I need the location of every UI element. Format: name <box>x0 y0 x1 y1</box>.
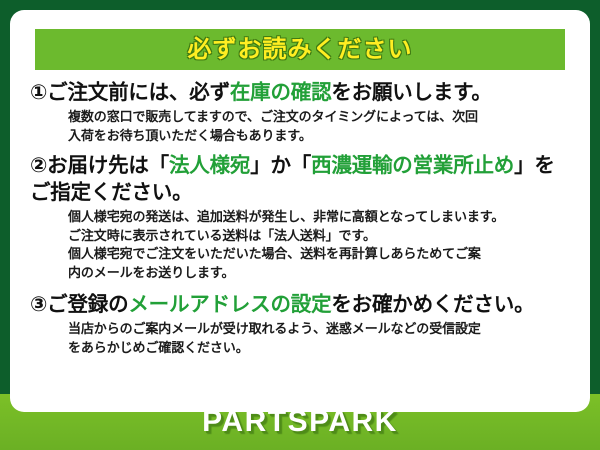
notice-item-3-heading: ③ご登録のメールアドレスの設定をお確かめください。 <box>30 291 574 318</box>
notice-frame: PARTSPARK 必ずお読みください ①ご注文前には、必ず在庫の確認をお願いし… <box>0 0 600 450</box>
item-1-body-line: 入荷をお待ち頂いただく場合もあります。 <box>68 127 574 145</box>
item-3-body-line: をあらかじめご確認ください。 <box>68 339 574 357</box>
notice-item-2-heading: ②お届け先は「法人様宛」か「西濃運輸の営業所止め」をご指定ください。 <box>30 153 574 206</box>
notice-item-1-heading: ①ご注文前には、必ず在庫の確認をお願いします。 <box>30 79 574 106</box>
notice-item-1: ①ご注文前には、必ず在庫の確認をお願いします。 複数の窓口で販売してますので、ご… <box>30 79 574 145</box>
notice-item-2-body: 個人様宅宛の発送は、追加送料が発生し、非常に高額となってしまいます。 ご注文時に… <box>30 206 574 282</box>
item-1-heading-highlight: 在庫の確認 <box>230 81 332 104</box>
item-1-body-line: 複数の窓口で販売してますので、ご注文のタイミングによっては、次回 <box>68 108 574 126</box>
notice-item-2: ②お届け先は「法人様宛」か「西濃運輸の営業所止め」をご指定ください。 個人様宅宛… <box>30 153 574 282</box>
notice-item-3-body: 当店からのご案内メールが受け取れるよう、迷惑メールなどの受信設定 をあらかじめご… <box>30 318 574 357</box>
page-title: 必ずお読みください <box>188 38 413 62</box>
item-2-body-line: 内のメールをお送りします。 <box>68 264 574 282</box>
item-2-heading-pre: お届け先は「 <box>47 154 169 177</box>
item-marker-3: ③ <box>30 293 47 316</box>
item-marker-2: ② <box>30 154 47 177</box>
item-3-body-line: 当店からのご案内メールが受け取れるよう、迷惑メールなどの受信設定 <box>68 320 574 338</box>
item-2-heading-highlight-2: 西濃運輸の営業所止め <box>311 154 514 177</box>
item-2-heading-mid: 」か「 <box>250 154 311 177</box>
item-marker-1: ① <box>30 81 47 104</box>
item-2-body-line: ご注文時に表示されている送料は「法人送料」です。 <box>68 227 574 245</box>
item-2-body-line: 個人様宅宛でご注文をいただいた場合、送料を再計算しあらためてご案 <box>68 245 574 263</box>
item-3-heading-pre: ご登録の <box>47 293 128 316</box>
notice-panel: 必ずお読みください ①ご注文前には、必ず在庫の確認をお願いします。 複数の窓口で… <box>10 10 590 412</box>
item-1-heading-pre: ご注文前には、必ず <box>47 81 230 104</box>
header-banner: 必ずお読みください <box>35 29 565 70</box>
item-2-body-line: 個人様宅宛の発送は、追加送料が発生し、非常に高額となってしまいます。 <box>68 208 574 226</box>
notice-item-1-body: 複数の窓口で販売してますので、ご注文のタイミングによっては、次回 入荷をお待ち頂… <box>30 106 574 145</box>
item-1-heading-post: をお願いします。 <box>331 81 491 104</box>
item-2-heading-highlight: 法人様宛 <box>169 154 250 177</box>
notice-item-3: ③ご登録のメールアドレスの設定をお確かめください。 当店からのご案内メールが受け… <box>30 291 574 357</box>
item-3-heading-highlight: メールアドレスの設定 <box>128 293 331 316</box>
item-3-heading-post: をお確かめください。 <box>331 293 534 316</box>
notice-item-list: ①ご注文前には、必ず在庫の確認をお願いします。 複数の窓口で販売してますので、ご… <box>24 70 576 357</box>
